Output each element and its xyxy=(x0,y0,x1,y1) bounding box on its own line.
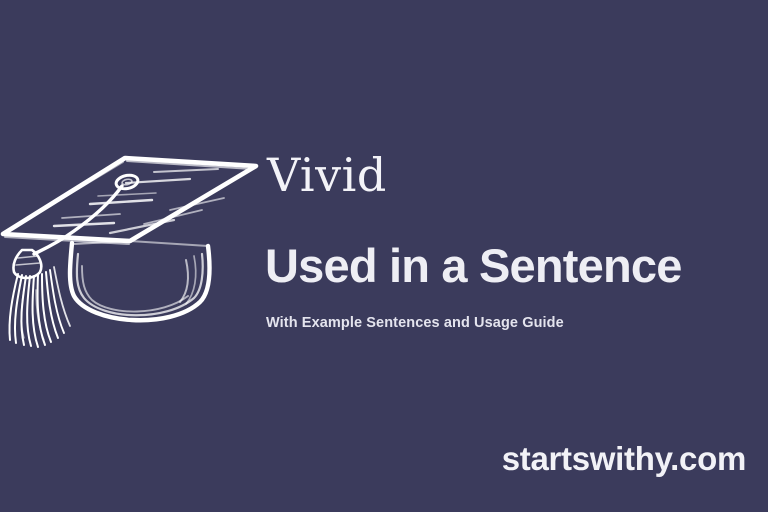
headline-group: Vivid Used in a Sentence With Example Se… xyxy=(265,152,755,331)
graduation-cap-icon xyxy=(0,138,274,358)
poster-canvas: Vivid Used in a Sentence With Example Se… xyxy=(0,0,768,512)
brand-watermark: startswithy.com xyxy=(502,440,746,478)
page-subtitle: With Example Sentences and Usage Guide xyxy=(265,289,755,331)
page-title: Used in a Sentence xyxy=(265,214,755,289)
word-title: Vivid xyxy=(265,152,755,214)
